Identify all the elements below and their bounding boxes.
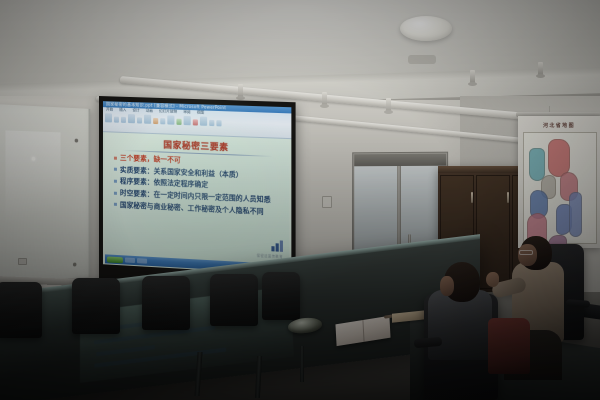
sprinkler-head-4-icon — [470, 70, 475, 83]
slide-bullet-5-text: 国家秘密与商业秘密、工作秘密及个人隐私不同 — [120, 201, 264, 216]
slide-canvas: 国家秘密三要素 三个要素，缺一不可 实质要素：关系国家安全和利益（本质） 程序要… — [105, 132, 289, 264]
draped-red-jacket — [488, 318, 530, 374]
wall-outlet — [18, 258, 27, 265]
replace-icon[interactable] — [216, 120, 221, 126]
wall-switch-panel[interactable] — [322, 196, 332, 208]
whiteboard-light-reflection — [32, 157, 36, 161]
fill-color-icon[interactable] — [193, 119, 198, 125]
sprinkler-head-5-icon — [538, 62, 543, 75]
ribbon-tab-3[interactable]: 动画 — [145, 109, 154, 114]
attendee-cheek — [440, 276, 454, 296]
new-slide-icon[interactable] — [128, 114, 135, 123]
speaker-face — [518, 244, 537, 266]
cut-icon[interactable] — [114, 117, 119, 123]
font-icon[interactable] — [144, 115, 151, 124]
dome-light-1-icon — [400, 16, 452, 41]
speaker-hand-gesture — [486, 272, 499, 287]
cabinet-handle-2-icon[interactable] — [507, 192, 509, 203]
chair-far-1[interactable] — [0, 282, 42, 338]
chair-far-5[interactable] — [262, 272, 300, 320]
sprinkler-head-2-icon — [322, 92, 327, 105]
table-leg-3 — [300, 346, 304, 382]
map-caption: 河北省地图 — [518, 122, 600, 129]
eyeglasses-icon — [519, 250, 533, 255]
ribbon-tab-2[interactable]: 设计 — [131, 108, 140, 113]
ribbon-tab-1[interactable]: 插入 — [118, 108, 127, 113]
wall-whiteboard — [0, 104, 90, 282]
sprinkler-head-3-icon — [386, 98, 391, 111]
conference-room-photo: 国家秘密的基本知识.ppt [兼容模式] - Microsoft PowerPo… — [0, 0, 600, 400]
shapes-icon[interactable] — [184, 116, 191, 125]
paste-icon[interactable] — [105, 113, 112, 122]
layout-icon[interactable] — [137, 117, 142, 123]
door-transom — [354, 154, 446, 167]
bullet-marker-icon — [114, 168, 117, 171]
whiteboard-glare — [5, 130, 60, 249]
projected-desktop: 国家秘密的基本知识.ppt [兼容模式] - Microsoft PowerPo… — [103, 101, 291, 275]
find-icon[interactable] — [209, 120, 214, 126]
chair-far-2[interactable] — [72, 278, 120, 334]
region-north-teal — [529, 148, 545, 182]
ceiling-vent — [408, 55, 436, 64]
whiteboard-screw-bottom — [73, 263, 76, 267]
ribbon-tab-5[interactable]: 审阅 — [182, 110, 191, 115]
bullet-list-icon[interactable] — [167, 115, 174, 124]
start-button[interactable] — [107, 256, 123, 263]
cabinet-handle-1-icon[interactable] — [471, 192, 473, 203]
whiteboard-screw-top — [75, 139, 78, 143]
region-lower-mauve — [548, 235, 567, 244]
map-canvas — [523, 132, 597, 244]
slide-logo-icon — [271, 240, 283, 252]
ribbon-tab-6[interactable]: 视图 — [196, 110, 205, 115]
bullet-marker-icon — [114, 191, 117, 194]
copy-icon[interactable] — [121, 117, 126, 123]
italic-icon[interactable] — [160, 118, 165, 124]
arrange-icon[interactable] — [200, 116, 207, 125]
region-far-east-blue — [569, 192, 582, 237]
ribbon-tab-4[interactable]: 幻灯片放映 — [158, 109, 178, 115]
sprinkler-head-1-icon — [238, 84, 243, 97]
bullet-marker-icon — [114, 180, 117, 183]
slide-bullet-3-text: 程序要素：依照法定程序确定 — [120, 177, 208, 189]
bullet-marker-icon — [114, 156, 117, 159]
bullet-marker-icon — [114, 203, 117, 206]
slide-bullet-list: 三个要素，缺一不可 实质要素：关系国家安全和利益（本质） 程序要素：依照法定程序… — [114, 154, 283, 221]
region-northeast-red — [548, 139, 570, 177]
chair-far-4[interactable] — [210, 274, 258, 326]
ribbon-tab-0[interactable]: 开始 — [105, 107, 114, 112]
chair-far-3[interactable] — [142, 276, 190, 330]
slide-bullet-1-text: 三个要素，缺一不可 — [120, 154, 181, 165]
wall-map: 河北省地图 — [518, 116, 600, 248]
ribbon-button-group[interactable] — [105, 113, 289, 129]
taskbar-item-1[interactable] — [125, 257, 135, 263]
taskbar-item-2[interactable] — [137, 258, 147, 264]
bold-icon[interactable] — [153, 118, 158, 124]
align-icon[interactable] — [176, 119, 181, 125]
